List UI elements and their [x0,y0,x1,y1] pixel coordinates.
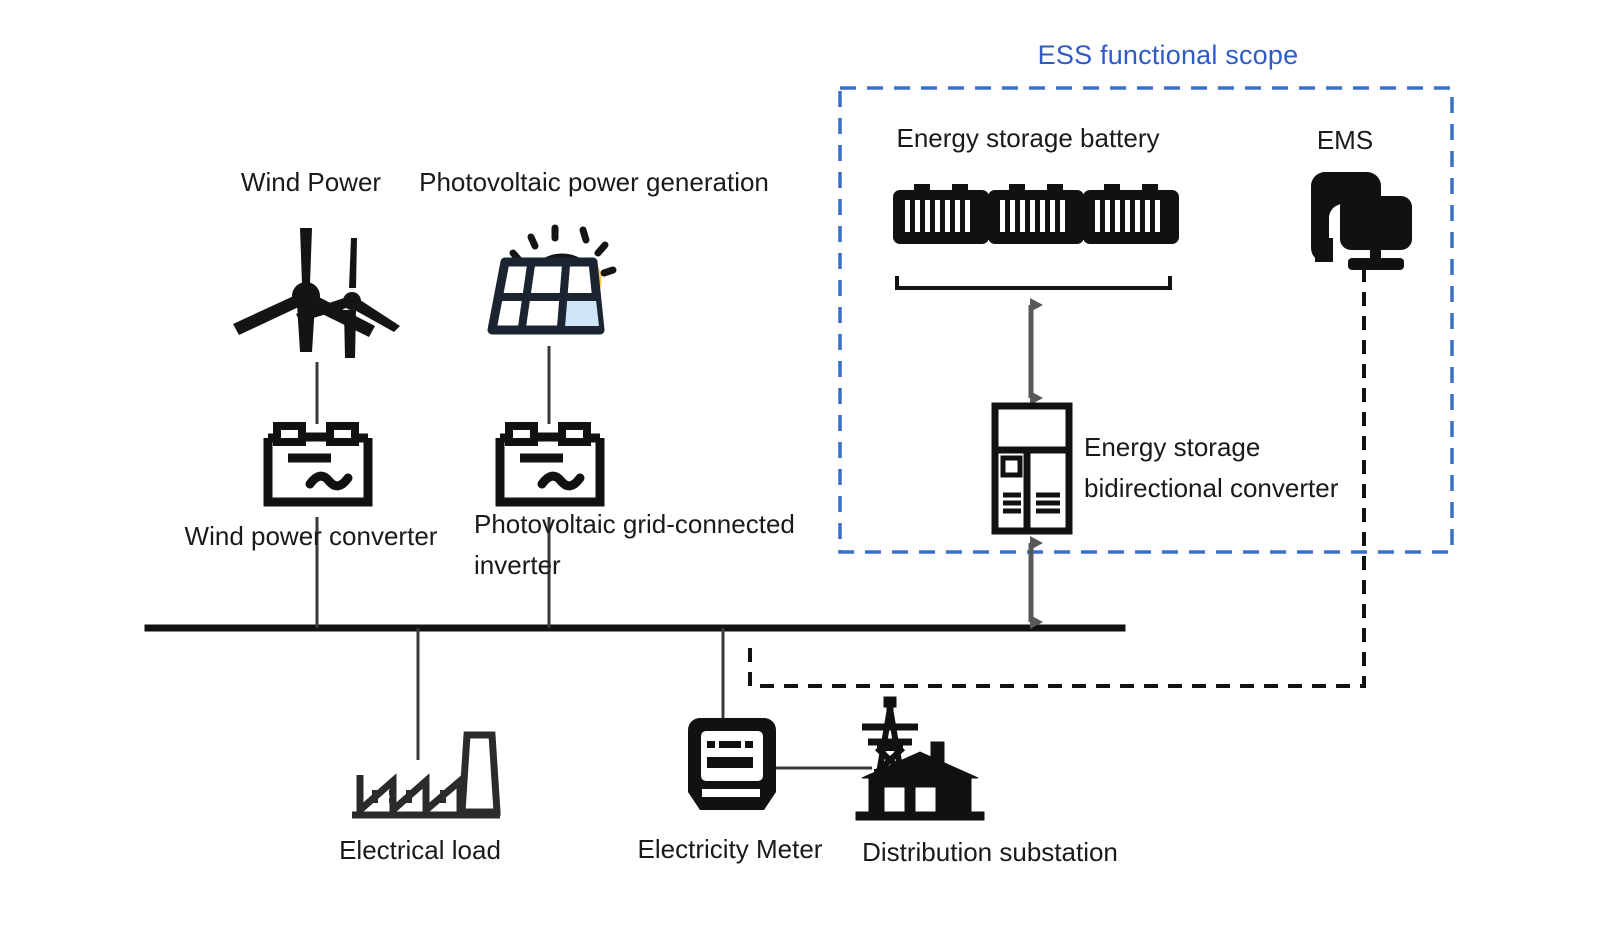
computer-monitor-icon [1311,172,1412,270]
diagram-canvas: ESS functional scope Wind Power Photovol… [0,0,1599,926]
transmission-tower-house-icon [856,697,984,820]
electricity-meter-label: Electricity Meter [638,833,823,866]
pv-generation-label: Photovoltaic power generation [419,166,769,199]
battery-icon [1083,184,1179,244]
converter-box-icon-pv [500,426,600,502]
factory-icon [352,735,500,815]
cabinet-icon [995,406,1069,531]
energy-storage-battery-label: Energy storage battery [896,122,1159,155]
wind-turbine-icon [233,228,400,358]
ems-label: EMS [1317,124,1373,157]
battery-icon [893,184,989,244]
pv-inverter-label-line2: inverter [474,549,561,582]
solar-panel-icon [492,228,613,330]
converter-box-icon-wind [268,426,368,502]
battery-icon-group [893,184,1179,244]
electricity-meter-icon [688,718,776,810]
bidirectional-converter-label-line2: bidirectional converter [1084,472,1338,505]
wind-converter-label: Wind power converter [185,520,438,553]
battery-bracket [897,276,1170,288]
ess-scope-title: ESS functional scope [1038,40,1299,71]
bidirectional-converter-label-line1: Energy storage [1084,431,1260,464]
battery-icon [988,184,1084,244]
distribution-substation-label: Distribution substation [862,836,1118,869]
wind-power-label: Wind Power [241,166,381,199]
electrical-load-label: Electrical load [339,834,501,867]
pv-inverter-label-line1: Photovoltaic grid-connected [474,508,795,541]
